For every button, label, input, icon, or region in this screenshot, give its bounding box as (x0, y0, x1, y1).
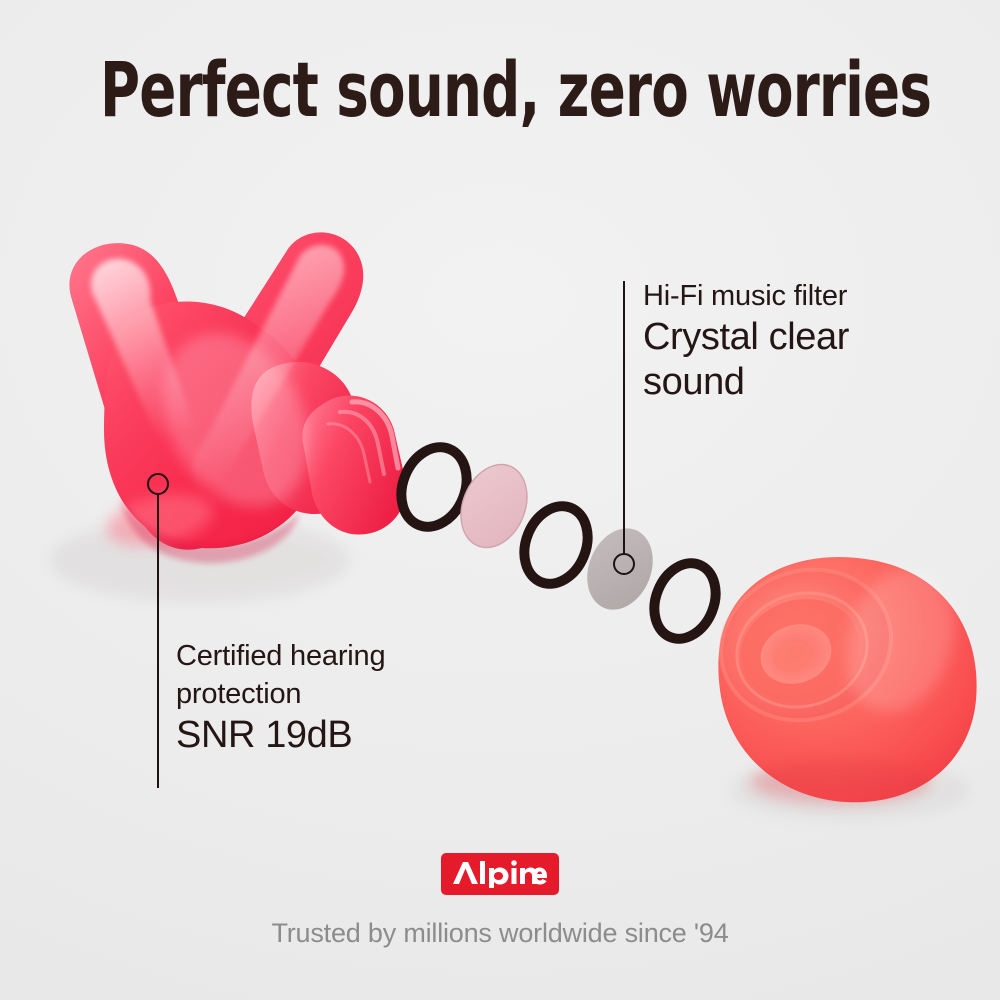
annotation-title-line2: sound (643, 360, 943, 405)
background-gradient (0, 0, 1000, 1000)
leader-stem (623, 281, 625, 554)
brand-tagline: Trusted by millions worldwide since '94 (0, 918, 1000, 949)
annotation-hearing-protection: Certified hearing protection SNR 19dB (176, 637, 506, 758)
alpine-wordmark (452, 860, 548, 888)
page-title: Perfect sound, zero worries (100, 48, 900, 132)
annotation-title-line1: Crystal clear (643, 315, 943, 360)
annotation-eyebrow: Hi-Fi music filter (643, 277, 943, 315)
alpine-logo (441, 853, 559, 895)
leader-stem (157, 495, 159, 788)
product-infographic: Perfect sound, zero worries (0, 0, 1000, 1000)
annotation-hifi-filter: Hi-Fi music filter Crystal clear sound (643, 277, 943, 405)
annotation-title: SNR 19dB (176, 713, 506, 758)
annotation-eyebrow-line1: Certified hearing (176, 637, 506, 675)
annotation-eyebrow-line2: protection (176, 675, 506, 713)
leader-dot-acoustic-filter (613, 553, 635, 575)
leader-dot-earplug-body (147, 473, 169, 495)
